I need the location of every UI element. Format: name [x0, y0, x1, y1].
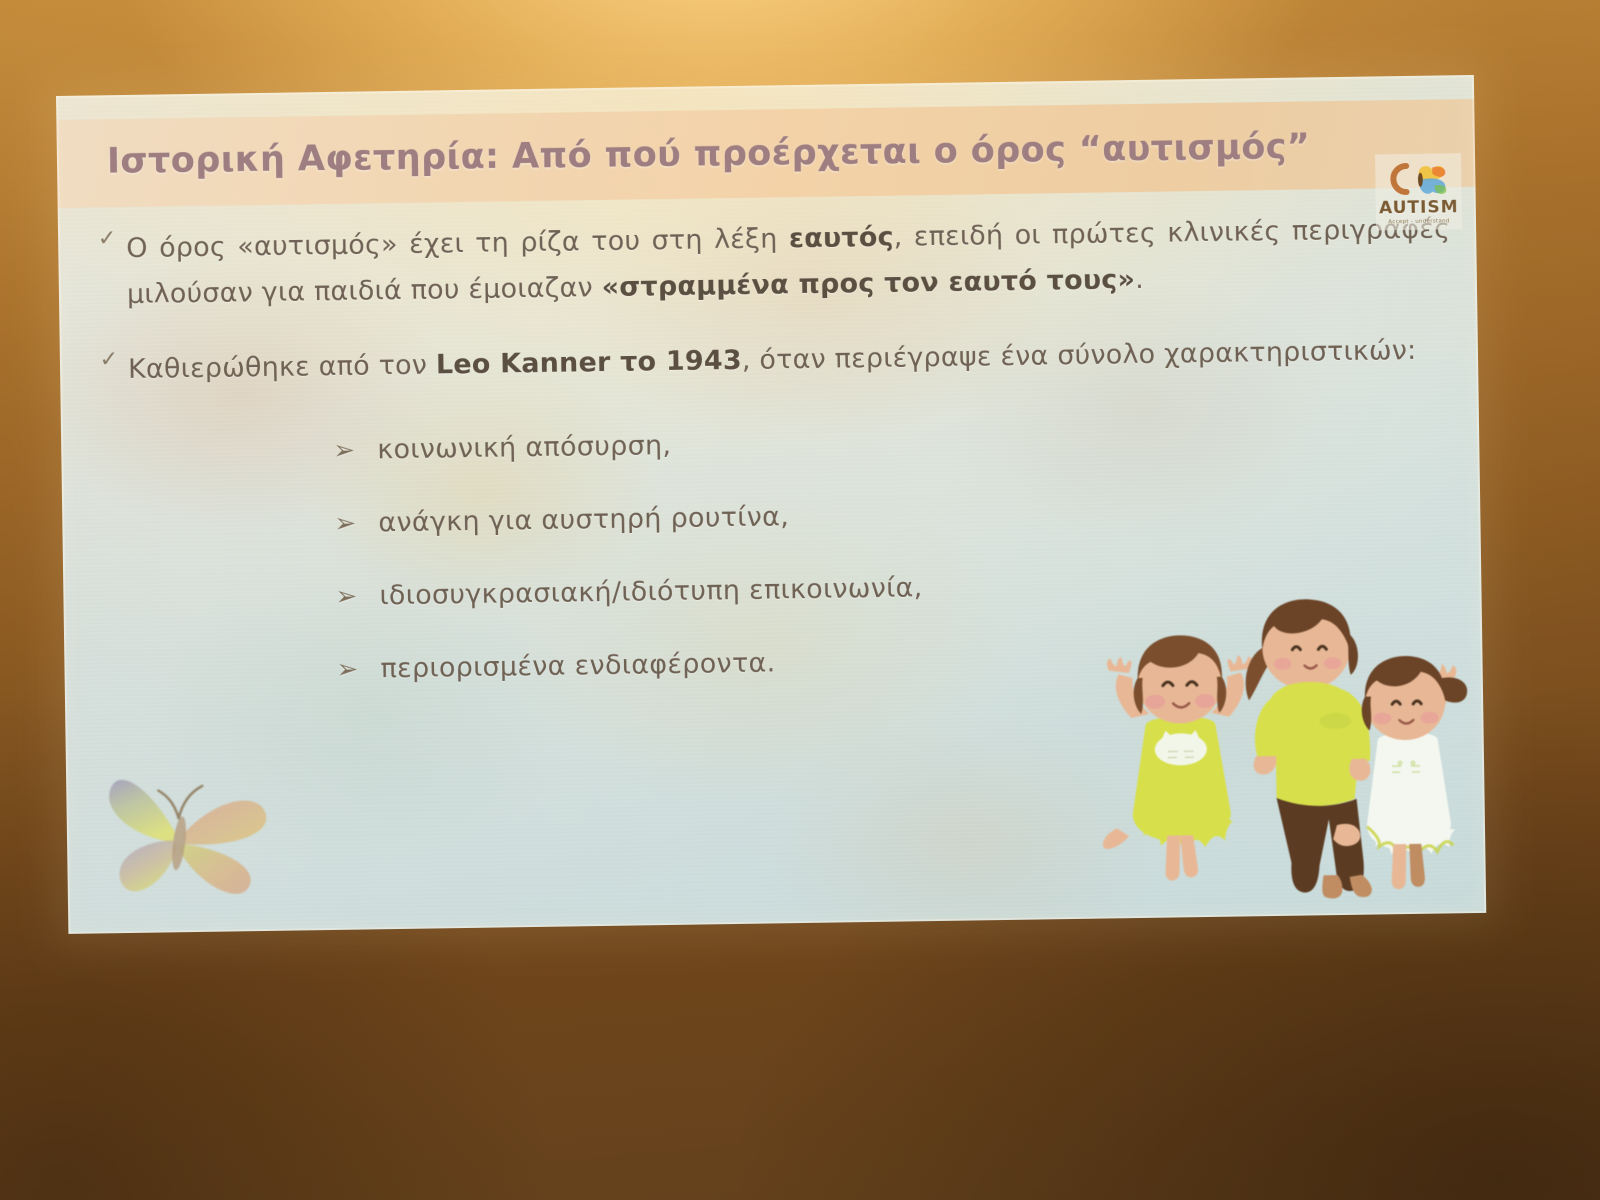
checkmark-icon: ✓ [94, 347, 124, 373]
sub-bullet-label: κοινωνική απόσυρση, [377, 430, 671, 465]
page-title: Ιστορική Αφετηρία: Από πού προέρχεται ο … [107, 127, 1311, 182]
logo-wordmark: AUTISM [1379, 199, 1459, 217]
logo-tagline: Accept - understand [1388, 218, 1449, 225]
sub-bullet-label: ανάγκη για αυστηρή ρουτίνα, [378, 501, 789, 538]
projected-slide: Ιστορική Αφετηρία: Από πού προέρχεται ο … [56, 75, 1486, 934]
sub-bullet-label: περιορισμένα ενδιαφέροντα. [380, 648, 775, 685]
three-children-illustration [1077, 573, 1482, 919]
arrow-bullet-icon: ➢ [335, 583, 379, 610]
arrow-bullet-icon: ➢ [334, 510, 378, 537]
bullet-text-2: Καθιερώθηκε από τον Leo Kanner το 1943, … [128, 327, 1453, 393]
slide-title-bar: Ιστορική Αφετηρία: Από πού προέρχεται ο … [56, 99, 1475, 208]
autism-logo: AUTISM Accept - understand [1375, 153, 1462, 230]
watercolor-butterfly-icon [86, 743, 298, 916]
bullet-item: ✓ Ο όρος «αυτισμός» έχει τη ρίζα του στη… [92, 195, 1452, 330]
arrow-bullet-icon: ➢ [336, 656, 380, 683]
list-item: ➢ κοινωνική απόσυρση, [333, 419, 1453, 467]
bullet-text-1: Ο όρος «αυτισμός» έχει τη ρίζα του στη λ… [126, 206, 1451, 319]
arrow-bullet-icon: ➢ [333, 437, 377, 464]
bullet-item: ✓ Καθιερώθηκε από τον Leo Kanner το 1943… [94, 316, 1453, 405]
checkmark-icon: ✓ [92, 226, 122, 252]
sub-bullet-label: ιδιοσυγκρασιακή/ιδιότυπη επικοινωνία, [379, 573, 923, 612]
butterfly-logo-icon [1380, 159, 1457, 200]
slide-canvas: Ιστορική Αφετηρία: Από πού προέρχεται ο … [56, 75, 1486, 934]
list-item: ➢ ανάγκη για αυστηρή ρουτίνα, [334, 492, 1454, 540]
